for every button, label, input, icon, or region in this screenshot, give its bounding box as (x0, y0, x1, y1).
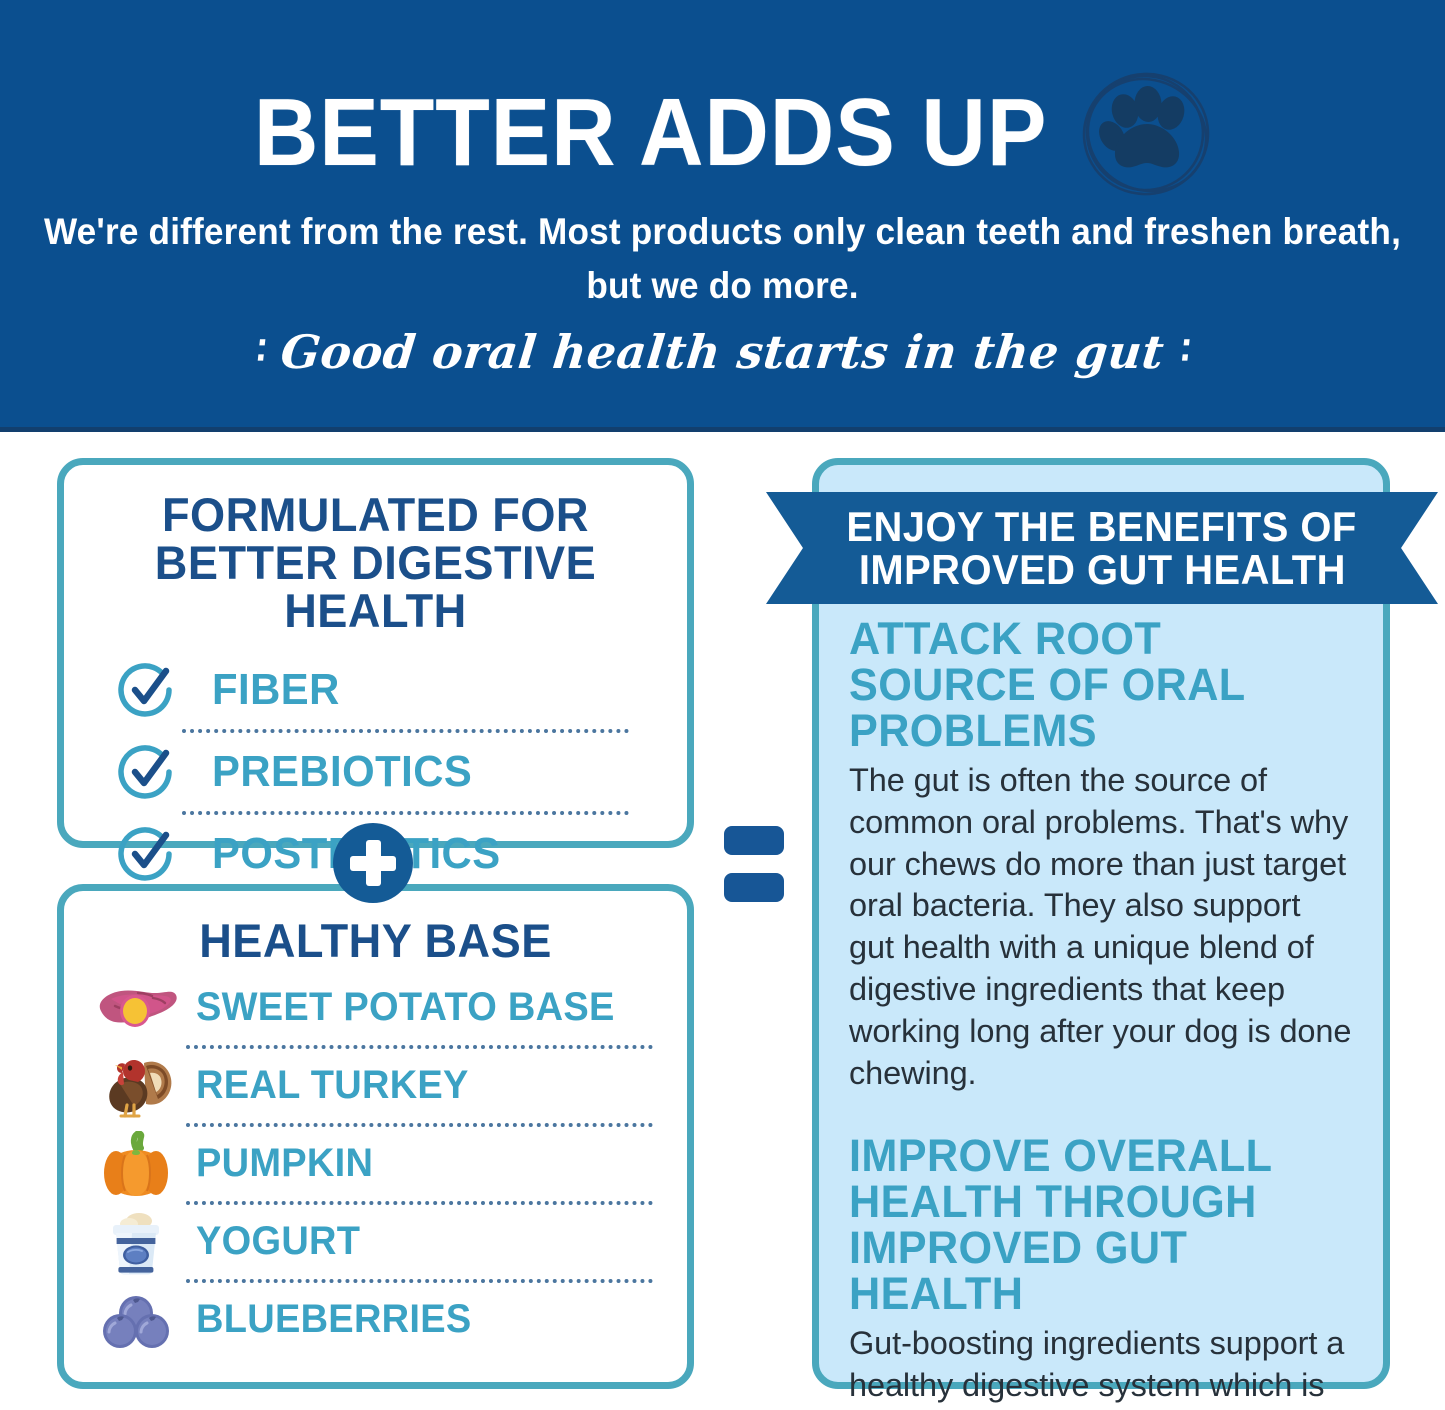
benefit-block: IMPROVE OVERALL HEALTH THROUGH IMPROVED … (849, 1133, 1353, 1410)
benefits-ribbon-banner: ENJOY THE BENEFITS OF IMPROVED GUT HEALT… (766, 492, 1438, 604)
check-circle-icon (116, 823, 178, 885)
equals-sign-icon (724, 826, 784, 906)
benefit-body-text: The gut is often the source of common or… (849, 760, 1353, 1095)
yogurt-cup-icon (90, 1208, 182, 1276)
list-item-label: SWEET POTATO BASE (196, 985, 615, 1030)
infographic-page: BETTER ADDS UP (0, 0, 1445, 1410)
list-item-label: FIBER (212, 665, 340, 715)
list-divider (186, 1045, 653, 1049)
list-item: SWEET POTATO BASE (90, 971, 661, 1045)
header-tagline: ∶ Good oral health starts in the gut ∶ (0, 325, 1445, 379)
list-item: PREBIOTICS (104, 733, 647, 811)
header-subtitle: We're different from the rest. Most prod… (36, 205, 1409, 312)
list-item: PUMPKIN (90, 1127, 661, 1201)
tagline-tick-right: ∶ (1178, 327, 1191, 374)
list-item-label: PREBIOTICS (212, 747, 472, 797)
list-divider (182, 811, 629, 815)
list-item: YOGURT (90, 1205, 661, 1279)
list-item-label: PUMPKIN (196, 1141, 373, 1186)
equals-top-bar (724, 826, 784, 855)
list-item: REAL TURKEY (90, 1049, 661, 1123)
sweet-potato-icon (90, 974, 182, 1042)
list-item: BLUEBERRIES (90, 1283, 661, 1357)
formulated-card: FORMULATED FOR BETTER DIGESTIVE HEALTH F… (57, 458, 694, 848)
benefit-heading: IMPROVE OVERALL HEALTH THROUGH IMPROVED … (849, 1133, 1333, 1317)
pumpkin-icon (90, 1130, 182, 1198)
formulated-card-title: FORMULATED FOR BETTER DIGESTIVE HEALTH (76, 491, 674, 635)
list-item-label: BLUEBERRIES (196, 1297, 472, 1342)
list-divider (186, 1123, 653, 1127)
benefit-body-text: Gut-boosting ingredients support a healt… (849, 1323, 1353, 1410)
list-divider (186, 1201, 653, 1205)
healthy-base-card: HEALTHY BASE SWEET POTATO BASE (57, 884, 694, 1389)
equals-bottom-bar (724, 873, 784, 902)
ingredient-list: SWEET POTATO BASE (90, 971, 661, 1357)
list-divider (182, 729, 629, 733)
list-item: FIBER (104, 651, 647, 729)
list-item-label: REAL TURKEY (196, 1063, 469, 1108)
header-banner: BETTER ADDS UP (0, 0, 1445, 432)
benefit-block: ATTACK ROOT SOURCE OF ORAL PROBLEMS The … (849, 616, 1353, 1095)
check-circle-icon (116, 741, 178, 803)
ribbon-line-2: IMPROVED GUT HEALTH (858, 548, 1345, 591)
blueberries-icon (90, 1286, 182, 1354)
ribbon-line-1: ENJOY THE BENEFITS OF (847, 505, 1357, 548)
header-title-row: BETTER ADDS UP (0, 58, 1445, 208)
healthy-base-card-title: HEALTHY BASE (76, 917, 674, 965)
list-item-label: YOGURT (196, 1219, 360, 1264)
benefits-content: ATTACK ROOT SOURCE OF ORAL PROBLEMS The … (819, 616, 1383, 1410)
turkey-icon (90, 1052, 182, 1120)
plus-icon (333, 823, 413, 903)
tagline-text: Good oral health starts in the gut (278, 325, 1167, 379)
list-divider (186, 1279, 653, 1283)
plus-vertical-bar (366, 840, 381, 886)
benefit-heading: ATTACK ROOT SOURCE OF ORAL PROBLEMS (849, 616, 1333, 754)
paw-print-icon (1071, 58, 1221, 208)
tagline-tick-left: ∶ (254, 327, 267, 374)
check-circle-icon (116, 659, 178, 721)
page-title: BETTER ADDS UP (254, 85, 1047, 181)
